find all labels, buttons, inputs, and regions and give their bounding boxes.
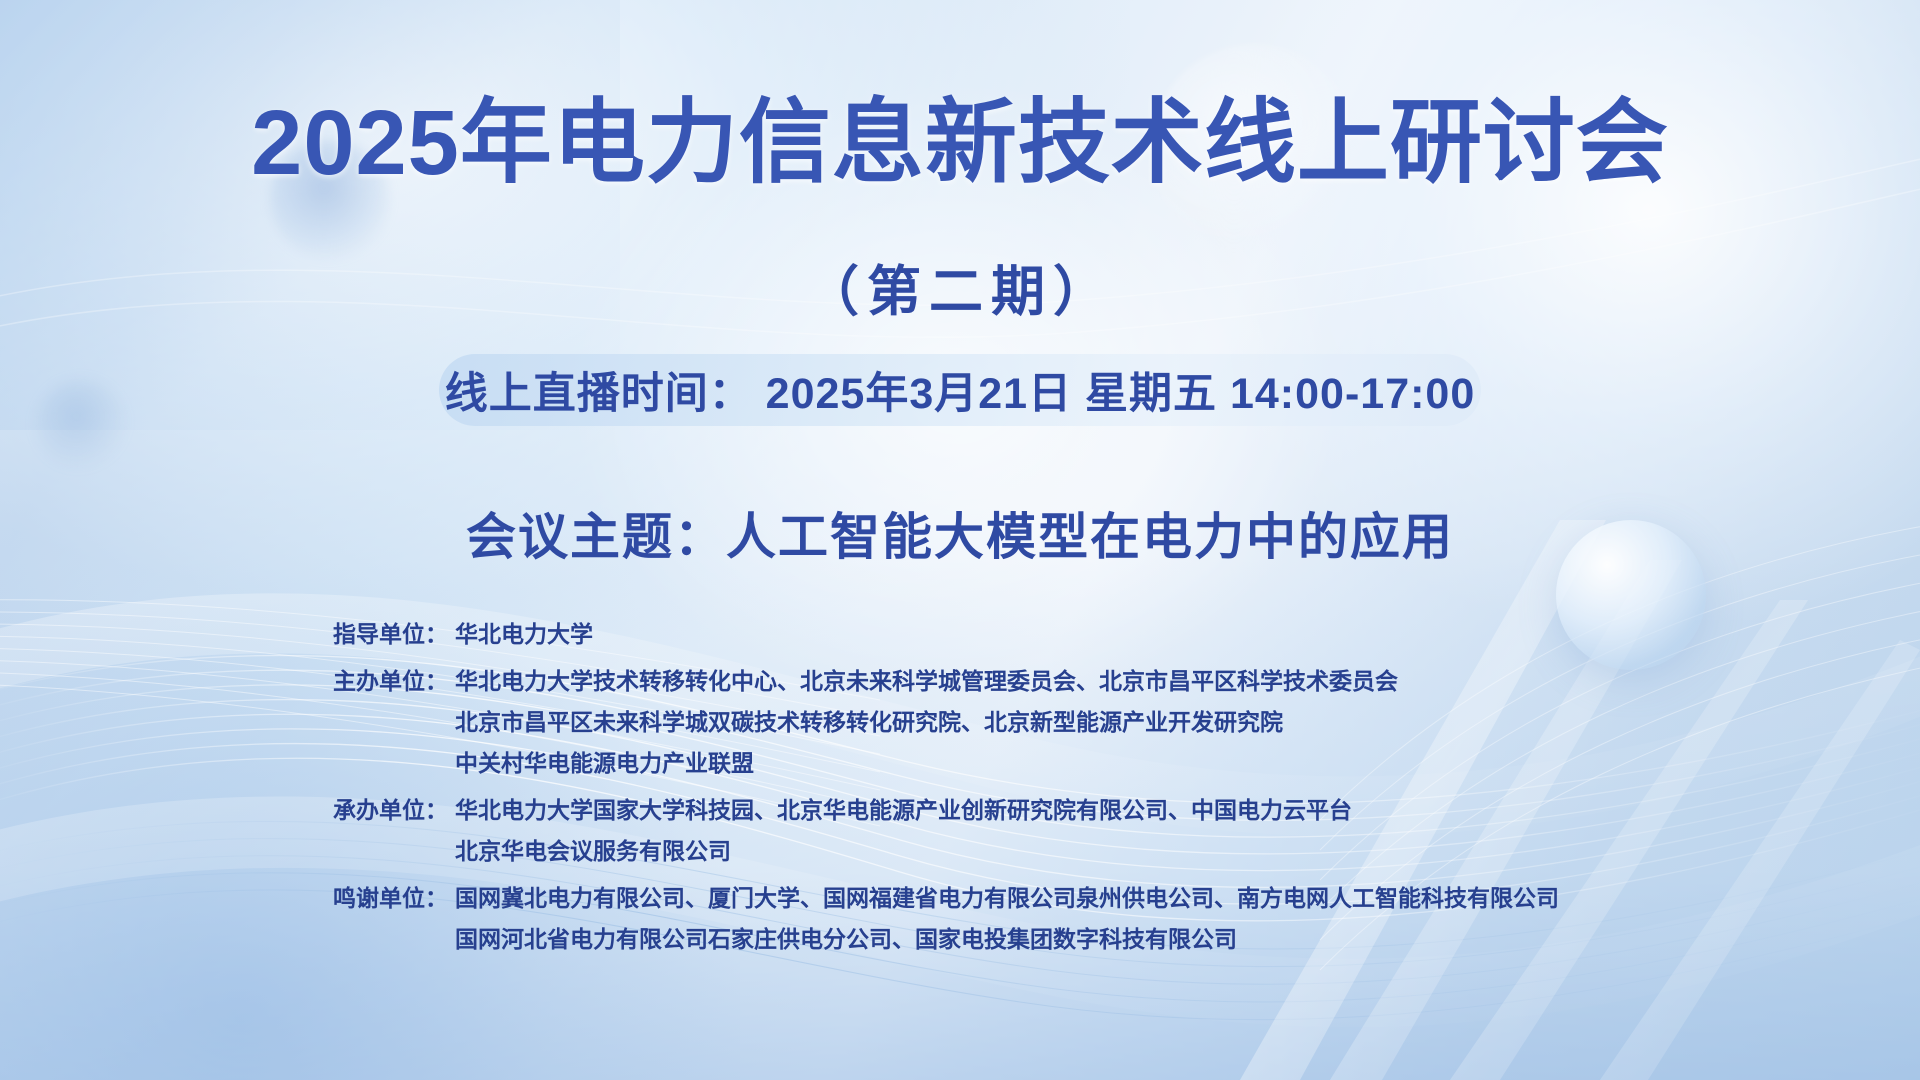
organization-line: 中关村华电能源电力产业联盟	[455, 743, 1663, 784]
poster-subtitle: （第二期）	[0, 247, 1920, 326]
organization-line: 国网冀北电力有限公司、厦门大学、国网福建省电力有限公司泉州供电公司、南方电网人工…	[455, 878, 1663, 919]
livestream-time-text: 线上直播时间： 2025年3月21日 星期五 14:00-17:00	[445, 359, 1476, 421]
organization-line: 北京市昌平区未来科学城双碳技术转移转化研究院、北京新型能源产业开发研究院	[455, 702, 1663, 743]
organization-values: 华北电力大学国家大学科技园、北京华电能源产业创新研究院有限公司、中国电力云平台 …	[455, 790, 1663, 872]
organization-values: 华北电力大学技术转移转化中心、北京未来科学城管理委员会、北京市昌平区科学技术委员…	[455, 661, 1663, 784]
organization-line: 北京华电会议服务有限公司	[455, 831, 1663, 872]
organization-row: 承办单位： 华北电力大学国家大学科技园、北京华电能源产业创新研究院有限公司、中国…	[333, 790, 1663, 872]
poster-title: 2025年电力信息新技术线上研讨会	[0, 95, 1920, 192]
poster-content: 2025年电力信息新技术线上研讨会 （第二期） 线上直播时间： 2025年3月2…	[0, 0, 1920, 1080]
organization-line: 国网河北省电力有限公司石家庄供电分公司、国家电投集团数字科技有限公司	[455, 919, 1663, 960]
organization-row: 指导单位： 华北电力大学	[333, 614, 1663, 655]
conference-theme: 会议主题：人工智能大模型在电力中的应用	[0, 497, 1920, 569]
organization-line: 华北电力大学	[455, 614, 1663, 655]
organization-label: 指导单位：	[333, 614, 455, 655]
organization-row: 主办单位： 华北电力大学技术转移转化中心、北京未来科学城管理委员会、北京市昌平区…	[333, 661, 1663, 784]
organization-values: 华北电力大学	[455, 614, 1663, 655]
organization-values: 国网冀北电力有限公司、厦门大学、国网福建省电力有限公司泉州供电公司、南方电网人工…	[455, 878, 1663, 960]
conference-poster: 2025年电力信息新技术线上研讨会 （第二期） 线上直播时间： 2025年3月2…	[0, 0, 1920, 1080]
organization-line: 华北电力大学国家大学科技园、北京华电能源产业创新研究院有限公司、中国电力云平台	[455, 790, 1663, 831]
organization-row: 鸣谢单位： 国网冀北电力有限公司、厦门大学、国网福建省电力有限公司泉州供电公司、…	[333, 878, 1663, 960]
organization-label: 鸣谢单位：	[333, 878, 455, 919]
organization-list: 指导单位： 华北电力大学 主办单位： 华北电力大学技术转移转化中心、北京未来科学…	[333, 614, 1663, 966]
organization-label: 承办单位：	[333, 790, 455, 831]
livestream-time-banner: 线上直播时间： 2025年3月21日 星期五 14:00-17:00	[439, 354, 1481, 426]
organization-label: 主办单位：	[333, 661, 455, 702]
organization-line: 华北电力大学技术转移转化中心、北京未来科学城管理委员会、北京市昌平区科学技术委员…	[455, 661, 1663, 702]
